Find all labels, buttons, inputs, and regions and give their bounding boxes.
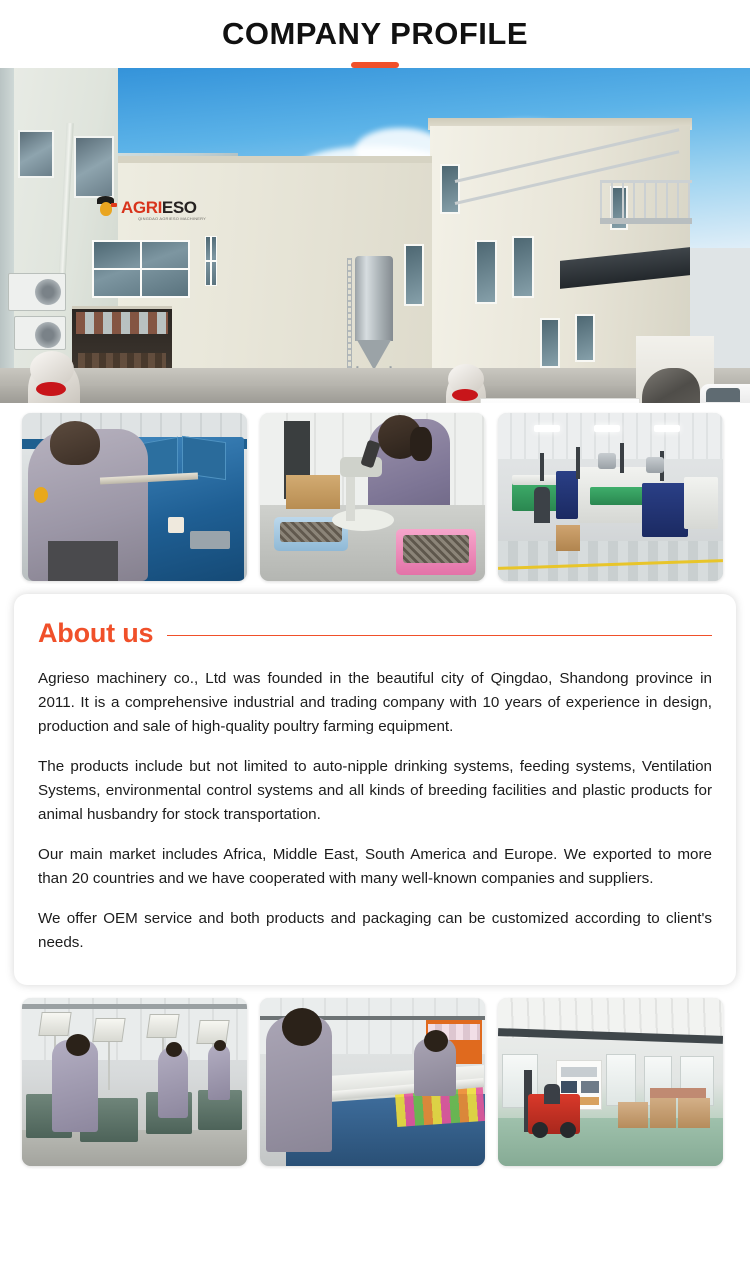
about-paragraph: Agrieso machinery co., Ltd was founded i… xyxy=(38,667,712,739)
page-title: COMPANY PROFILE xyxy=(222,18,528,49)
garage-top-window xyxy=(76,312,168,334)
assembly-workbench-photo xyxy=(260,998,485,1166)
factory-exterior-photo: AGRIESO QINGDAO AGRIESO MACHINERY xyxy=(0,68,750,403)
window xyxy=(205,236,217,286)
platform-railing xyxy=(600,180,692,220)
company-signboard: AGRIESO 青岛伊苏畜牧机械设备有限公司 Qingdao Agrieso M… xyxy=(480,398,640,403)
wall-logo-subtext: QINGDAO AGRIESO MACHINERY xyxy=(138,216,206,221)
window xyxy=(18,130,54,178)
forklift-driver xyxy=(544,1084,560,1104)
about-paragraph: We offer OEM service and both products a… xyxy=(38,907,712,955)
about-us-divider xyxy=(167,635,712,636)
about-us-body: Agrieso machinery co., Ltd was founded i… xyxy=(38,667,712,955)
stone-lion-ribbon xyxy=(452,389,478,401)
wall-brand-logo: AGRIESO xyxy=(96,196,197,218)
company-profile-page: COMPANY PROFILE xyxy=(0,0,750,1283)
air-conditioner-unit xyxy=(14,316,66,350)
left-building-side xyxy=(0,68,14,403)
about-paragraph: Our main market includes Africa, Middle … xyxy=(38,843,712,891)
stone-lion-ribbon xyxy=(36,382,66,396)
top-thumbnail-row xyxy=(0,413,750,581)
wall-logo-brand-primary: AGRI xyxy=(121,198,162,217)
about-us-card: About us Agrieso machinery co., Ltd was … xyxy=(14,594,736,985)
window xyxy=(404,244,424,306)
air-conditioner-unit xyxy=(8,273,66,311)
window xyxy=(540,318,560,368)
injection-molding-workshop-photo xyxy=(498,413,723,581)
uniform-brand-logo xyxy=(30,487,66,513)
warehouse-forklift-photo xyxy=(498,998,723,1166)
worker-figure xyxy=(534,487,550,523)
platform-deck xyxy=(600,218,692,224)
production-line-photo xyxy=(22,998,247,1166)
window xyxy=(575,314,595,362)
worker-figure xyxy=(208,1044,230,1100)
page-header: COMPANY PROFILE xyxy=(0,0,750,68)
bottom-thumbnail-row xyxy=(0,998,750,1166)
feed-silo xyxy=(355,256,393,341)
wall-logo-brand-secondary: ESO xyxy=(162,198,197,217)
window xyxy=(74,136,114,198)
window xyxy=(92,240,190,298)
car-window xyxy=(706,388,740,402)
about-us-title: About us xyxy=(38,620,153,647)
pink-parts-tray xyxy=(396,529,476,575)
worker-machining-photo xyxy=(22,413,247,581)
about-paragraph: The products include but not limited to … xyxy=(38,755,712,827)
about-us-header: About us xyxy=(38,620,712,647)
rooster-icon xyxy=(96,196,118,218)
quality-inspection-photo xyxy=(260,413,485,581)
